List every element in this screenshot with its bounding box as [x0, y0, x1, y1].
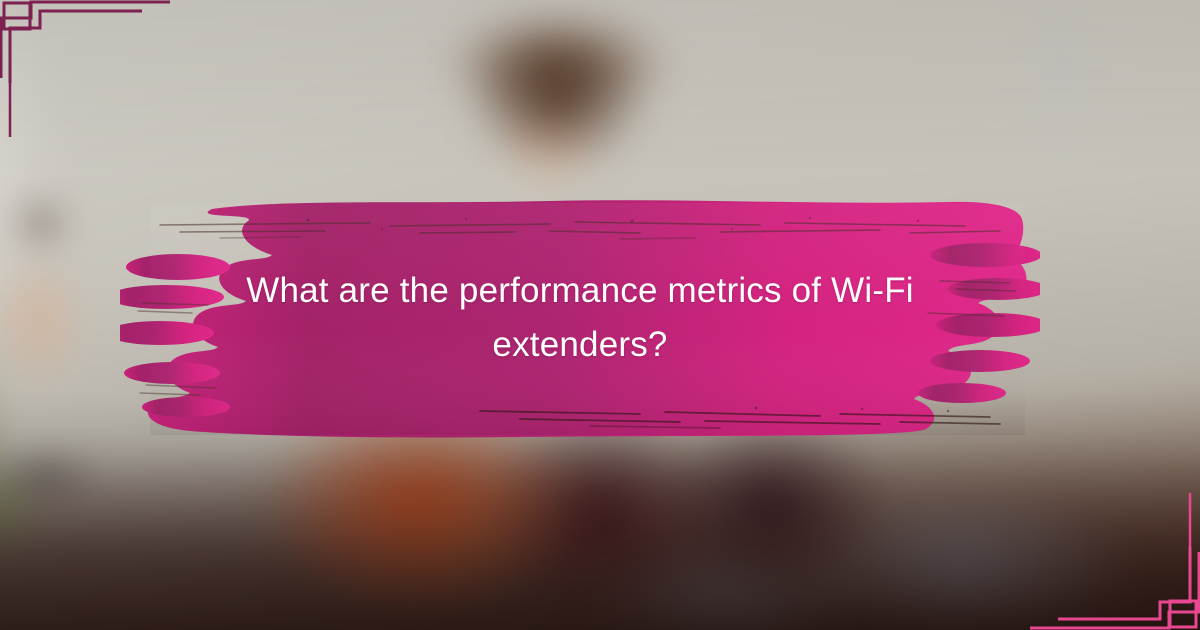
brush-banner: What are the performance metrics of Wi-F…	[120, 185, 1040, 450]
question-line-2: extenders?	[492, 318, 667, 372]
question-line-1: What are the performance metrics of Wi-F…	[246, 264, 914, 318]
question-card: What are the performance metrics of Wi-F…	[0, 0, 1200, 630]
corner-frame-top-left-icon	[0, 0, 175, 165]
corner-frame-bottom-right-icon	[1025, 465, 1200, 630]
question-text-block: What are the performance metrics of Wi-F…	[120, 185, 1040, 450]
